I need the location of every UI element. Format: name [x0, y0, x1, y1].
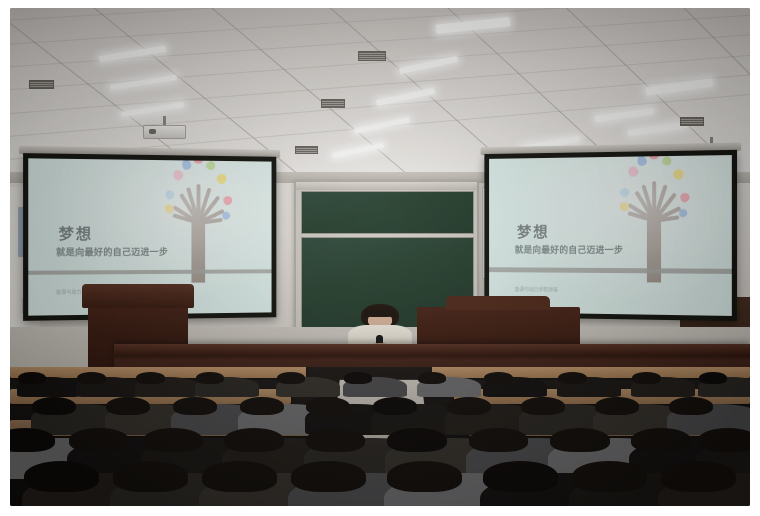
tree-leaf	[649, 155, 659, 159]
audience-head	[483, 461, 558, 491]
blackboard-panel-upper	[301, 191, 475, 234]
audience-head	[558, 372, 586, 384]
speaker-fringe	[364, 310, 396, 317]
audience-head	[306, 428, 366, 452]
audience-head	[69, 428, 129, 452]
tree-leaf	[205, 160, 216, 171]
ceiling-light	[628, 122, 687, 136]
tree-leaf	[626, 165, 640, 179]
tree-leaf	[181, 158, 192, 170]
audience-head	[24, 461, 99, 491]
audience-head	[484, 372, 512, 384]
tree-leaf	[163, 189, 175, 201]
audience-head	[387, 461, 462, 491]
podium-table-edge	[114, 344, 750, 355]
audience-head	[387, 428, 447, 452]
audience	[10, 367, 750, 506]
audience-head	[10, 428, 55, 452]
audience-head	[447, 397, 491, 415]
ceiling-light	[332, 142, 384, 158]
ceiling-air-vent	[358, 51, 387, 61]
audience-head	[469, 428, 529, 452]
audience-head	[306, 397, 350, 415]
slide-title: 梦想	[517, 222, 549, 243]
tree-leaf	[171, 168, 185, 182]
ceiling-light	[594, 108, 653, 122]
ceiling-air-vent	[29, 80, 55, 89]
audience-head	[698, 428, 750, 452]
tree-leaf	[215, 172, 229, 186]
audience-head	[632, 372, 660, 384]
audience-head	[32, 397, 76, 415]
side-cabinet-top	[446, 296, 550, 310]
audience-head	[631, 428, 691, 452]
projector-lens-icon	[149, 129, 156, 134]
audience-head	[418, 372, 446, 384]
audience-head	[550, 428, 610, 452]
audience-head	[113, 461, 188, 491]
audience-head	[572, 461, 647, 491]
tree-leaf	[193, 158, 203, 163]
audience-head	[136, 372, 164, 384]
tree-leaf	[678, 209, 687, 218]
slide-footer: 能源与动力学院讲座	[515, 287, 558, 294]
photo-frame: 梦想就是向最好的自己迈进一步能源与动力学院讲座梦想就是向最好的自己迈进一步能源与…	[0, 0, 760, 516]
ceiling-air-vent	[295, 146, 318, 154]
audience-head	[240, 397, 284, 415]
tree-leaf	[163, 203, 174, 214]
audience-head	[196, 372, 224, 384]
blackboard-rail	[296, 182, 477, 190]
lectern-top	[82, 284, 194, 308]
audience-head	[661, 461, 736, 491]
audience-head	[173, 397, 217, 415]
audience-head	[291, 461, 366, 491]
tree-leaf	[222, 195, 234, 207]
audience-head	[344, 372, 372, 384]
audience-head	[699, 372, 727, 384]
tree-leaf	[636, 155, 648, 167]
audience-head	[669, 397, 713, 415]
audience-head	[595, 397, 639, 415]
tree-leaf	[661, 156, 673, 167]
ceiling-air-vent	[680, 117, 704, 125]
slide-tree-graphic	[143, 172, 253, 283]
audience-head	[143, 428, 203, 452]
audience-head	[202, 461, 277, 491]
slide-surface: 梦想就是向最好的自己迈进一步能源与动力学院讲座	[489, 155, 732, 316]
audience-head	[521, 397, 565, 415]
audience-head	[277, 372, 305, 384]
ceiling-light	[99, 46, 166, 62]
ceiling-light	[110, 75, 177, 91]
tree-leaf	[671, 168, 686, 182]
audience-head	[106, 397, 150, 415]
tree-leaf	[679, 192, 691, 204]
tree-leaf	[222, 211, 230, 220]
slide-subtitle: 就是向最好的自己迈进一步	[515, 244, 623, 257]
lecture-hall-photo: 梦想就是向最好的自己迈进一步能源与动力学院讲座梦想就是向最好的自己迈进一步能源与…	[10, 8, 750, 506]
audience-head	[373, 397, 417, 415]
ceiling-air-vent	[321, 99, 345, 107]
audience-head	[224, 428, 284, 452]
slide-tree-graphic	[598, 169, 712, 284]
audience-head	[18, 372, 46, 384]
slide-subtitle: 就是向最好的自己迈进一步	[56, 245, 168, 258]
ceiling-grid-line	[10, 8, 750, 23]
audience-head	[77, 372, 105, 384]
tree-leaf	[618, 187, 630, 199]
slide-title: 梦想	[58, 223, 92, 244]
